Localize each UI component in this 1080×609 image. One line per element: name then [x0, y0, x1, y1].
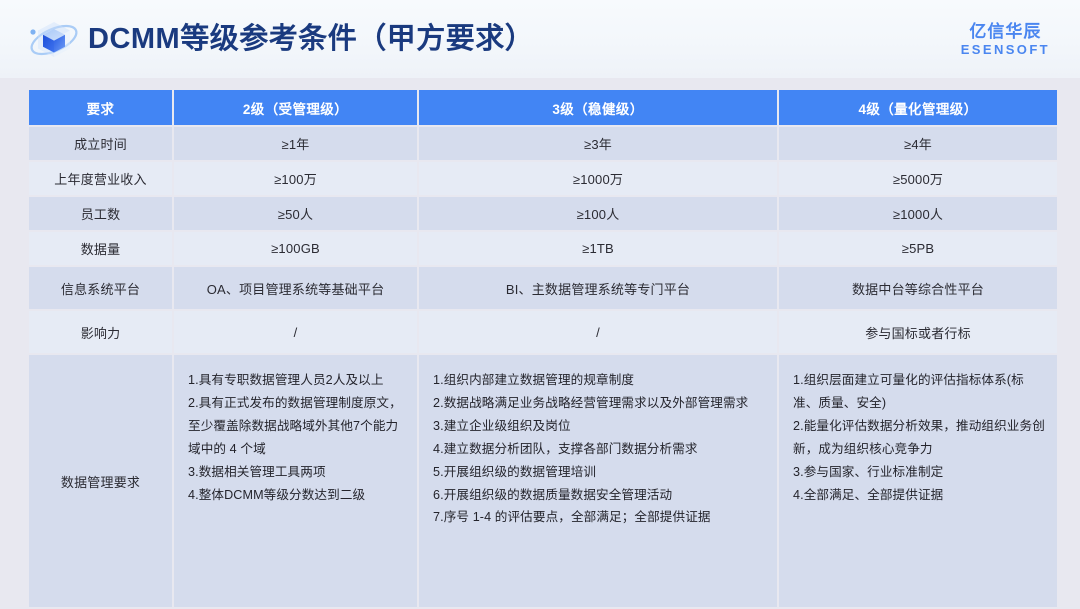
- list-item: 6.开展组织级的数据质量数据安全管理活动: [433, 484, 767, 507]
- table-row: 信息系统平台 OA、项目管理系统等基础平台 BI、主数据管理系统等专门平台 数据…: [29, 267, 1057, 309]
- table-row: 员工数 ≥50人 ≥100人 ≥1000人: [29, 197, 1057, 230]
- cell-level3-requirements: 1.组织内部建立数据管理的规章制度 2.数据战略满足业务战略经营管理需求以及外部…: [419, 355, 777, 607]
- cell-level2: OA、项目管理系统等基础平台: [174, 267, 417, 309]
- row-label-data-volume: 数据量: [29, 232, 172, 265]
- row-label-information-platform: 信息系统平台: [29, 267, 172, 309]
- cell-level3: ≥100人: [419, 197, 777, 230]
- column-header-requirement: 要求: [29, 90, 172, 125]
- list-item: 3.数据相关管理工具两项: [188, 461, 407, 484]
- cell-level3: /: [419, 311, 777, 353]
- table-header-row: 要求 2级（受管理级） 3级（稳健级） 4级（量化管理级）: [29, 90, 1057, 125]
- list-item: 4.整体DCMM等级分数达到二级: [188, 484, 407, 507]
- requirement-list-level2: 1.具有专职数据管理人员2人及以上 2.具有正式发布的数据管理制度原文，至少覆盖…: [188, 369, 407, 506]
- requirement-list-level3: 1.组织内部建立数据管理的规章制度 2.数据战略满足业务战略经营管理需求以及外部…: [433, 369, 767, 529]
- cell-level3: ≥3年: [419, 127, 777, 160]
- column-header-level2: 2级（受管理级）: [174, 90, 417, 125]
- row-label-data-management: 数据管理要求: [29, 355, 172, 607]
- table-row: 影响力 / / 参与国标或者行标: [29, 311, 1057, 353]
- company-logo: 亿信华辰 ESENSOFT: [961, 23, 1050, 56]
- logo-english-name: ESENSOFT: [961, 43, 1050, 56]
- list-item: 1.组织层面建立可量化的评估指标体系(标准、质量、安全): [793, 369, 1047, 415]
- table-row: 上年度营业收入 ≥100万 ≥1000万 ≥5000万: [29, 162, 1057, 195]
- list-item: 7.序号 1-4 的评估要点，全部满足；全部提供证据: [433, 506, 767, 529]
- cell-level4: ≥5000万: [779, 162, 1057, 195]
- table-row: 成立时间 ≥1年 ≥3年 ≥4年: [29, 127, 1057, 160]
- column-header-level4: 4级（量化管理级）: [779, 90, 1057, 125]
- list-item: 2.具有正式发布的数据管理制度原文，至少覆盖除数据战略域外其他7个能力域中的 4…: [188, 392, 407, 461]
- row-label-founding-time: 成立时间: [29, 127, 172, 160]
- cell-level2: ≥1年: [174, 127, 417, 160]
- table-body: 成立时间 ≥1年 ≥3年 ≥4年 上年度营业收入 ≥100万 ≥1000万 ≥5…: [29, 127, 1057, 607]
- cell-level4: 数据中台等综合性平台: [779, 267, 1057, 309]
- list-item: 4.建立数据分析团队，支撑各部门数据分析需求: [433, 438, 767, 461]
- cell-level4-requirements: 1.组织层面建立可量化的评估指标体系(标准、质量、安全) 2.能量化评估数据分析…: [779, 355, 1057, 607]
- cell-level2: ≥50人: [174, 197, 417, 230]
- slide-header: DCMM等级参考条件（甲方要求） 亿信华辰 ESENSOFT: [0, 0, 1080, 78]
- column-header-level3: 3级（稳健级）: [419, 90, 777, 125]
- table-row-data-management: 数据管理要求 1.具有专职数据管理人员2人及以上 2.具有正式发布的数据管理制度…: [29, 355, 1057, 607]
- cell-level3: ≥1TB: [419, 232, 777, 265]
- requirement-list-level4: 1.组织层面建立可量化的评估指标体系(标准、质量、安全) 2.能量化评估数据分析…: [793, 369, 1047, 506]
- comparison-table-wrapper: 要求 2级（受管理级） 3级（稳健级） 4级（量化管理级） 成立时间 ≥1年 ≥…: [27, 88, 1053, 609]
- row-label-revenue: 上年度营业收入: [29, 162, 172, 195]
- table-head: 要求 2级（受管理级） 3级（稳健级） 4级（量化管理级）: [29, 90, 1057, 125]
- cell-level2: /: [174, 311, 417, 353]
- cell-level2: ≥100GB: [174, 232, 417, 265]
- list-item: 2.能量化评估数据分析效果，推动组织业务创新，成为组织核心竞争力: [793, 415, 1047, 461]
- row-label-employees: 员工数: [29, 197, 172, 230]
- cell-level4: 参与国标或者行标: [779, 311, 1057, 353]
- cell-level4: ≥4年: [779, 127, 1057, 160]
- list-item: 2.数据战略满足业务战略经营管理需求以及外部管理需求: [433, 392, 767, 415]
- list-item: 3.参与国家、行业标准制定: [793, 461, 1047, 484]
- list-item: 5.开展组织级的数据管理培训: [433, 461, 767, 484]
- list-item: 4.全部满足、全部提供证据: [793, 484, 1047, 507]
- cell-level4: ≥1000人: [779, 197, 1057, 230]
- row-label-influence: 影响力: [29, 311, 172, 353]
- list-item: 1.具有专职数据管理人员2人及以上: [188, 369, 407, 392]
- logo-chinese-name: 亿信华辰: [961, 23, 1050, 40]
- table-row: 数据量 ≥100GB ≥1TB ≥5PB: [29, 232, 1057, 265]
- list-item: 3.建立企业级组织及岗位: [433, 415, 767, 438]
- cell-level4: ≥5PB: [779, 232, 1057, 265]
- cell-level2: ≥100万: [174, 162, 417, 195]
- list-item: 1.组织内部建立数据管理的规章制度: [433, 369, 767, 392]
- cell-level3: ≥1000万: [419, 162, 777, 195]
- page-title: DCMM等级参考条件（甲方要求）: [88, 25, 534, 54]
- slide-root: DCMM等级参考条件（甲方要求） 亿信华辰 ESENSOFT 要求 2级（受管理…: [0, 0, 1080, 579]
- cell-level2-requirements: 1.具有专职数据管理人员2人及以上 2.具有正式发布的数据管理制度原文，至少覆盖…: [174, 355, 417, 607]
- cell-level3: BI、主数据管理系统等专门平台: [419, 267, 777, 309]
- dcmm-level-table: 要求 2级（受管理级） 3级（稳健级） 4级（量化管理级） 成立时间 ≥1年 ≥…: [27, 88, 1059, 609]
- cube-orbit-icon: [26, 14, 82, 66]
